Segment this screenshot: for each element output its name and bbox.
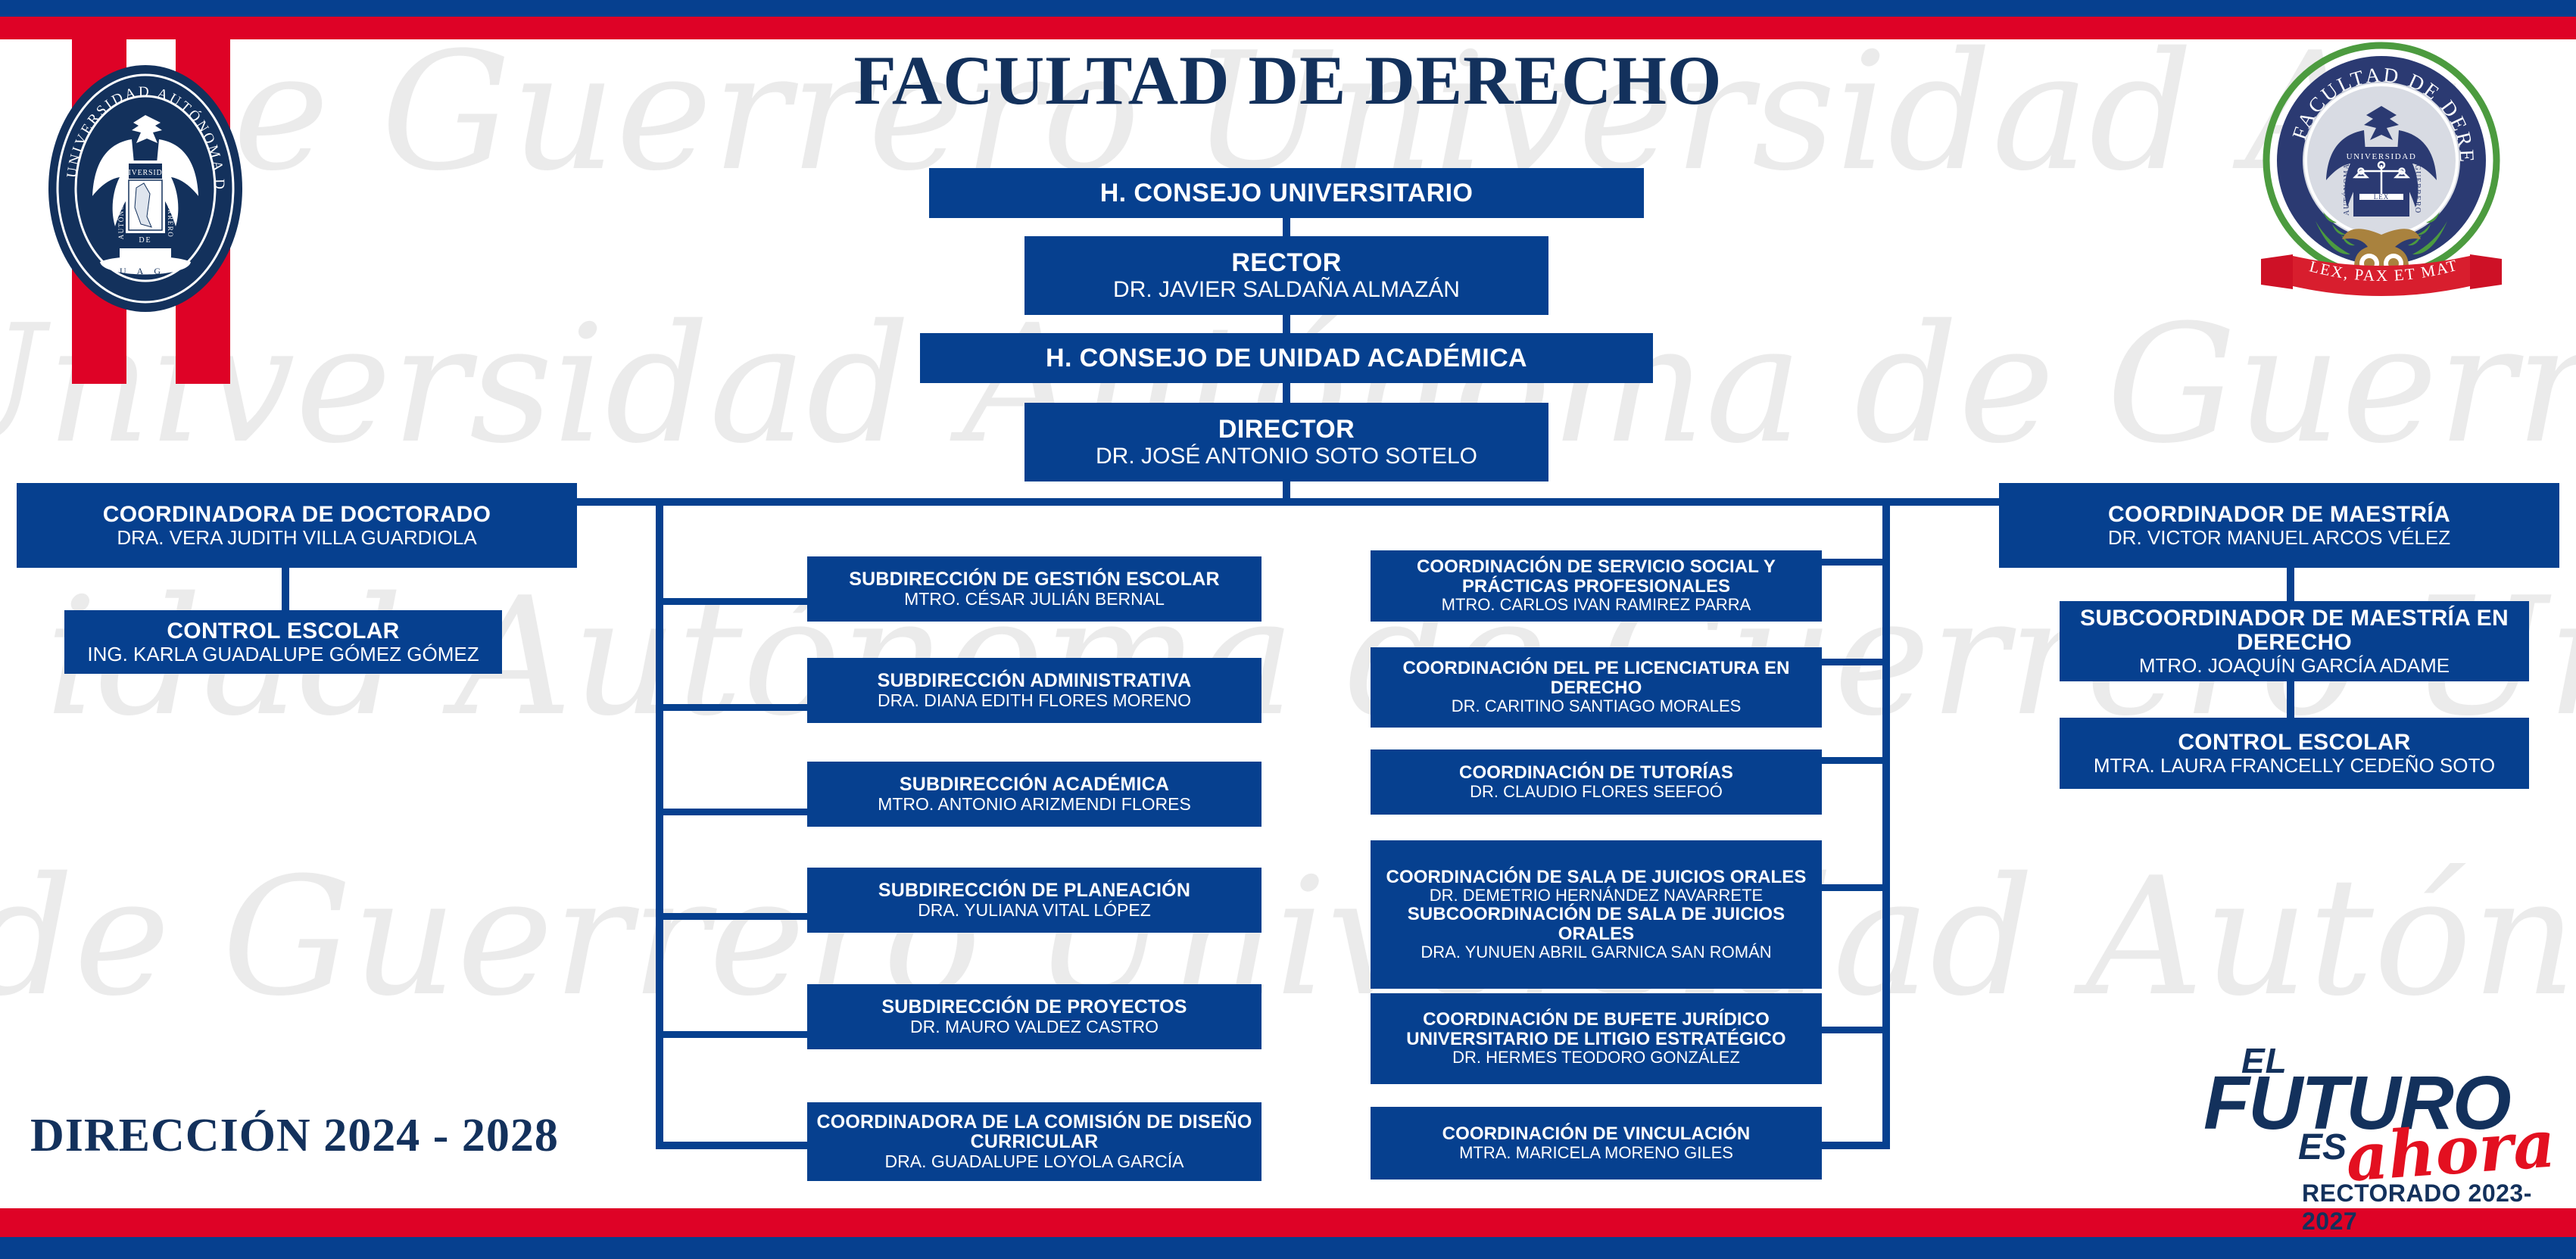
connector-consejo-unidad-director	[1283, 383, 1290, 404]
node-person-name: MTRA. MARICELA MORENO GILES	[1459, 1144, 1733, 1162]
node-consejo-universitario[interactable]: H. CONSEJO UNIVERSITARIO	[929, 168, 1644, 218]
connector-left-trunk-bottom	[656, 1142, 807, 1149]
watermark-line-4: de Guerrero Universidad Autónoma	[0, 842, 2576, 1032]
connector-left-branch-5	[663, 1031, 807, 1038]
connector-right-trunk	[1882, 500, 1890, 1149]
node-title: DIRECTOR	[1218, 416, 1355, 443]
node-person-name: DR. VICTOR MANUEL ARCOS VÉLEZ	[2108, 527, 2450, 549]
node-title-secondary: SUBCOORDINACIÓN DE SALA DE JUICIOS ORALE…	[1378, 905, 1814, 943]
logo-rectorado-text: RECTORADO 2023-2027	[2302, 1180, 2559, 1236]
svg-text:AUTÓNOMA: AUTÓNOMA	[2342, 163, 2351, 216]
node-person-name: DR. MAURO VALDEZ CASTRO	[910, 1017, 1159, 1036]
node-title: RECTOR	[1231, 249, 1341, 276]
svg-text:LEX: LEX	[2374, 193, 2390, 201]
svg-text:UNIVERSIDAD: UNIVERSIDAD	[116, 169, 174, 177]
node-coordinacion-bufete-juridico[interactable]: COORDINACIÓN DE BUFETE JURÍDICO UNIVERSI…	[1371, 993, 1822, 1084]
bottom-red-stripe	[0, 1208, 2576, 1237]
connector-doctorado-control	[282, 568, 289, 615]
node-coordinacion-sala-juicios-orales[interactable]: COORDINACIÓN DE SALA DE JUICIOS ORALES D…	[1371, 840, 1822, 989]
node-person-name: DRA. VERA JUDITH VILLA GUARDIOLA	[117, 527, 476, 549]
node-title: SUBDIRECCIÓN ACADÉMICA	[900, 774, 1169, 795]
bottom-blue-stripe	[0, 1237, 2576, 1259]
node-title: SUBDIRECCIÓN DE PROYECTOS	[881, 997, 1187, 1017]
node-person-name: DR. DEMETRIO HERNÁNDEZ NAVARRETE	[1430, 887, 1763, 905]
node-person-name: ING. KARLA GUADALUPE GÓMEZ GÓMEZ	[87, 644, 479, 665]
node-title: H. CONSEJO DE UNIDAD ACADÉMICA	[1046, 344, 1527, 372]
top-red-stripe	[0, 17, 2576, 39]
node-person-name: DR. CLAUDIO FLORES SEEFOÓ	[1470, 783, 1723, 801]
node-coordinacion-vinculacion[interactable]: COORDINACIÓN DE VINCULACIÓN MTRA. MARICE…	[1371, 1107, 1822, 1180]
node-title: COORDINADOR DE MAESTRÍA	[2108, 503, 2450, 527]
node-subcoordinador-maestria-derecho[interactable]: SUBCOORDINADOR DE MAESTRÍA EN DERECHO MT…	[2060, 601, 2529, 681]
node-subdireccion-gestion-escolar[interactable]: SUBDIRECCIÓN DE GESTIÓN ESCOLAR MTRO. CÉ…	[807, 556, 1261, 622]
el-futuro-es-ahora-logo: EL FUTURO ES ahora RECTORADO 2023-2027	[2181, 1043, 2559, 1206]
svg-text:UNIVERSIDAD: UNIVERSIDAD	[2347, 152, 2417, 161]
connector-left-branch-3	[663, 809, 807, 815]
node-director[interactable]: DIRECTOR DR. JOSÉ ANTONIO SOTO SOTELO	[1024, 403, 1548, 481]
direccion-period-label: DIRECCIÓN 2024 - 2028	[30, 1109, 559, 1163]
connector-left-branch-4	[663, 913, 807, 920]
connector-consejo-rector	[1283, 217, 1290, 238]
node-person-name: DR. CARITINO SANTIAGO MORALES	[1452, 697, 1742, 715]
node-coordinacion-servicio-social[interactable]: COORDINACIÓN DE SERVICIO SOCIAL Y PRÁCTI…	[1371, 550, 1822, 622]
node-title: SUBDIRECCIÓN ADMINISTRATIVA	[878, 671, 1192, 691]
node-person-name: MTRA. LAURA FRANCELLY CEDEÑO SOTO	[2094, 755, 2495, 777]
node-subdireccion-administrativa[interactable]: SUBDIRECCIÓN ADMINISTRATIVA DRA. DIANA E…	[807, 658, 1261, 723]
svg-text:UAG: UAG	[120, 266, 171, 276]
node-coordinador-maestria[interactable]: COORDINADOR DE MAESTRÍA DR. VICTOR MANUE…	[1999, 483, 2559, 568]
node-coordinacion-pe-licenciatura-derecho[interactable]: COORDINACIÓN DEL PE LICENCIATURA EN DERE…	[1371, 647, 1822, 728]
node-person-name-secondary: DRA. YUNUEN ABRIL GARNICA SAN ROMÁN	[1421, 943, 1771, 961]
node-title: SUBDIRECCIÓN DE GESTIÓN ESCOLAR	[849, 569, 1220, 590]
page-title: FACULTAD DE DERECHO	[0, 45, 2576, 115]
node-coordinadora-comision-diseno-curricular[interactable]: COORDINADORA DE LA COMISIÓN DE DISEÑO CU…	[807, 1102, 1261, 1181]
node-person-name: DR. JAVIER SALDAÑA ALMAZÁN	[1113, 277, 1460, 302]
node-title: COORDINACIÓN DE SERVICIO SOCIAL Y PRÁCTI…	[1378, 557, 1814, 596]
node-title: CONTROL ESCOLAR	[2178, 731, 2410, 755]
node-person-name: DRA. YULIANA VITAL LÓPEZ	[918, 901, 1151, 920]
node-consejo-unidad-academica[interactable]: H. CONSEJO DE UNIDAD ACADÉMICA	[920, 333, 1653, 383]
node-person-name: MTRO. ANTONIO ARIZMENDI FLORES	[878, 795, 1191, 814]
node-coordinadora-doctorado[interactable]: COORDINADORA DE DOCTORADO DRA. VERA JUDI…	[17, 483, 577, 568]
node-person-name: DR. JOSÉ ANTONIO SOTO SOTELO	[1096, 444, 1477, 469]
node-person-name: DRA. DIANA EDITH FLORES MORENO	[878, 691, 1191, 710]
node-rector[interactable]: RECTOR DR. JAVIER SALDAÑA ALMAZÁN	[1024, 236, 1548, 315]
connector-left-branch-2	[663, 704, 807, 711]
node-control-escolar-doctorado[interactable]: CONTROL ESCOLAR ING. KARLA GUADALUPE GÓM…	[64, 610, 502, 674]
connector-maestria-subcoord	[2287, 568, 2294, 606]
connector-rector-consejo-unidad	[1283, 313, 1290, 333]
svg-text:GUERRERO: GUERRERO	[2413, 164, 2422, 213]
logo-es-text: ES	[2298, 1127, 2347, 1168]
connector-left-trunk	[656, 500, 663, 1149]
node-subdireccion-planeacion[interactable]: SUBDIRECCIÓN DE PLANEACIÓN DRA. YULIANA …	[807, 868, 1261, 933]
node-person-name: DRA. GUADALUPE LOYOLA GARCÍA	[885, 1152, 1184, 1171]
node-title: SUBDIRECCIÓN DE PLANEACIÓN	[878, 880, 1190, 901]
connector-left-branch-1	[663, 598, 807, 605]
node-person-name: DR. HERMES TEODORO GONZÁLEZ	[1452, 1049, 1740, 1067]
node-title: COORDINACIÓN DE SALA DE JUICIOS ORALES	[1386, 868, 1807, 887]
node-title: COORDINACIÓN DE TUTORÍAS	[1459, 763, 1733, 782]
svg-text:AUTÓNOMA: AUTÓNOMA	[117, 191, 125, 240]
node-title: COORDINACIÓN DE VINCULACIÓN	[1442, 1124, 1751, 1143]
node-person-name: MTRO. JOAQUÍN GARCÍA ADAME	[2139, 655, 2450, 677]
top-blue-stripe	[0, 0, 2576, 17]
node-person-name: MTRO. CÉSAR JULIÁN BERNAL	[904, 590, 1165, 609]
node-title: CONTROL ESCOLAR	[167, 619, 399, 644]
node-subdireccion-academica[interactable]: SUBDIRECCIÓN ACADÉMICA MTRO. ANTONIO ARI…	[807, 762, 1261, 827]
node-subdireccion-proyectos[interactable]: SUBDIRECCIÓN DE PROYECTOS DR. MAURO VALD…	[807, 984, 1261, 1049]
node-title: SUBCOORDINADOR DE MAESTRÍA EN DERECHO	[2067, 606, 2521, 655]
node-title: COORDINACIÓN DE BUFETE JURÍDICO UNIVERSI…	[1378, 1010, 1814, 1049]
node-control-escolar-maestria[interactable]: CONTROL ESCOLAR MTRA. LAURA FRANCELLY CE…	[2060, 718, 2529, 789]
svg-text:DE: DE	[139, 236, 151, 245]
node-coordinacion-tutorias[interactable]: COORDINACIÓN DE TUTORÍAS DR. CLAUDIO FLO…	[1371, 749, 1822, 815]
node-person-name: MTRO. CARLOS IVAN RAMIREZ PARRA	[1442, 596, 1751, 614]
node-title: COORDINADORA DE DOCTORADO	[103, 503, 491, 527]
connector-subcoord-control	[2287, 681, 2294, 721]
node-title: COORDINADORA DE LA COMISIÓN DE DISEÑO CU…	[815, 1112, 1254, 1152]
svg-text:GUERRERO: GUERRERO	[167, 192, 174, 238]
node-title: COORDINACIÓN DEL PE LICENCIATURA EN DERE…	[1378, 659, 1814, 697]
node-title: H. CONSEJO UNIVERSITARIO	[1100, 179, 1474, 207]
